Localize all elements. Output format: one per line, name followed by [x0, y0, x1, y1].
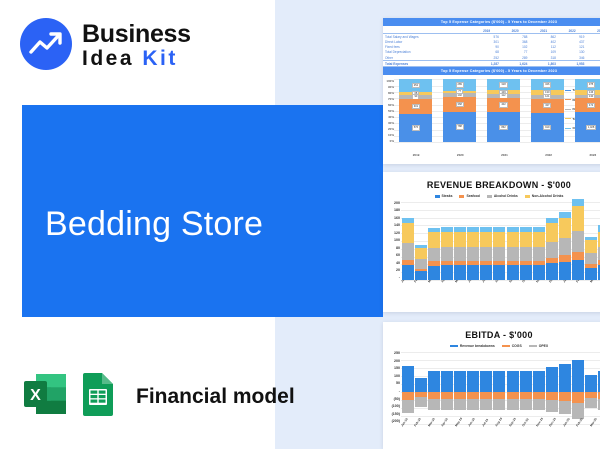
bar-segment	[520, 399, 532, 410]
bar-segment	[559, 392, 571, 401]
expense-total-cell: 1,287	[472, 61, 501, 67]
bar-column	[428, 228, 440, 280]
bar-segment	[467, 392, 479, 399]
bar-segment-positive	[520, 371, 532, 392]
bar-segment	[480, 399, 492, 410]
bar-segment-positive	[493, 371, 505, 392]
legend-swatch	[435, 195, 440, 198]
bar-segment: 1,028	[575, 112, 600, 142]
y-tick: 60	[385, 254, 400, 258]
bar-column	[493, 352, 505, 424]
bar-segment-positive	[533, 371, 545, 392]
bar-segment	[480, 247, 492, 261]
legend-label: Steaks	[442, 194, 453, 198]
bar-column	[415, 352, 427, 424]
bar-segment	[402, 243, 414, 260]
bar-segment-positive	[415, 378, 427, 392]
y-tick: 200	[385, 360, 400, 364]
bar-segment	[493, 265, 505, 280]
bar-segment	[585, 240, 597, 253]
bar-column	[533, 227, 545, 280]
y-tick: 120	[385, 232, 400, 236]
bar-segment: 301	[399, 99, 432, 114]
y-tick: (100)	[385, 405, 400, 409]
expense-categories-card[interactable]: Top 5 Expense Categories ($'000) - 5 Yea…	[383, 18, 600, 164]
bar-segment	[546, 242, 558, 258]
bar-segment	[441, 265, 453, 280]
y-tick: (50)	[385, 398, 400, 402]
bar-segment	[507, 392, 519, 399]
bar-value-label: 252	[412, 83, 420, 88]
grid-line	[401, 210, 600, 211]
bar-segment	[428, 266, 440, 280]
ebitda-y-axis: 25020015010050-(50)(100)(150)(200)	[385, 352, 400, 424]
bar-value-label: 437	[543, 103, 551, 108]
legend-label: Seafood	[466, 194, 479, 198]
y-tick: 0%	[384, 139, 394, 143]
bar-segment	[520, 392, 532, 399]
revenue-x-axis: Jan-19Feb-19Mar-19Apr-19May-19Jun-19Jul-…	[399, 281, 600, 285]
bar-column	[402, 218, 414, 280]
y-tick: (150)	[385, 413, 400, 417]
bar-column	[402, 352, 414, 424]
bar-segment	[533, 247, 545, 261]
bar-segment-negative	[546, 392, 558, 412]
bar-segment	[585, 268, 597, 280]
y-tick: 20	[385, 269, 400, 273]
stacked-bar: 2526890301576	[399, 79, 432, 142]
bar-column	[572, 352, 584, 424]
bar-segment	[533, 265, 545, 280]
legend-label: COGS	[512, 344, 522, 348]
bar-segment	[546, 392, 558, 400]
bar-segment	[467, 265, 479, 280]
legend-swatch	[525, 195, 530, 198]
stacked-bar: 3751461304721,028	[575, 79, 600, 142]
revenue-y-axis: 20018016014012010080604020-	[385, 202, 400, 280]
bar-value-label: 862	[499, 125, 507, 130]
bar-segment	[572, 392, 584, 403]
bar-segment-negative	[467, 392, 479, 410]
y-tick: 80	[385, 247, 400, 251]
bar-segment	[454, 247, 466, 261]
revenue-chart-legend: SteaksSeafoodAlcohol DrinksNon-Alcohol D…	[383, 194, 600, 198]
slide-root: Business Idea Kit Bedding Store X	[0, 0, 600, 449]
ebitda-card[interactable]: EBITDA - $'000 Revenue breakdownsCOGSOPE…	[383, 322, 600, 449]
bar-segment-negative	[480, 392, 492, 410]
brand-kit-text: Kit	[142, 47, 178, 70]
legend-label: OPEX	[539, 344, 548, 348]
bar-column	[480, 352, 492, 424]
bar-segment: 375	[575, 79, 600, 90]
bar-segment-positive	[480, 371, 492, 392]
bar-column	[546, 352, 558, 424]
bar-segment	[428, 399, 440, 410]
y-tick: 100%	[384, 79, 394, 83]
bar-value-label: 472	[587, 103, 595, 108]
bar-column	[441, 227, 453, 280]
bar-segment-positive	[402, 366, 414, 392]
table-row-total: Total Expenses1,2871,6241,8031,9532,151	[383, 61, 600, 67]
y-tick: 20%	[384, 127, 394, 131]
bar-column	[572, 199, 584, 280]
google-sheets-icon	[80, 372, 116, 421]
bar-segment	[402, 392, 414, 400]
bar-segment: 919	[531, 113, 564, 143]
bar-segment	[467, 399, 479, 410]
bar-segment: 472	[575, 98, 600, 112]
page-title: Bedding Store	[45, 205, 263, 244]
bar-value-label: 576	[412, 125, 420, 130]
bar-segment	[520, 232, 532, 248]
bar-segment	[493, 232, 505, 248]
stacked-bar: 28977102368788	[443, 79, 476, 142]
bar-column	[507, 352, 519, 424]
bar-segment-negative	[559, 392, 571, 414]
bar-segment	[572, 260, 584, 280]
bar-segment-positive	[585, 375, 597, 392]
legend-swatch	[565, 109, 571, 110]
stacked-bar: 346130121437919	[531, 79, 564, 142]
bar-segment-negative	[441, 392, 453, 410]
bar-segment	[454, 232, 466, 248]
bar-segment	[559, 401, 571, 414]
bar-segment	[507, 247, 519, 261]
legend-swatch	[529, 345, 537, 346]
bar-segment	[428, 248, 440, 262]
bar-segment	[493, 399, 505, 410]
expense-chart-x-axis: 20192020202120222023	[383, 153, 600, 157]
revenue-chart-title: REVENUE BREAKDOWN - $'000	[383, 180, 600, 190]
y-tick: 150	[385, 367, 400, 371]
y-tick: 40	[385, 262, 400, 266]
y-tick: 250	[385, 352, 400, 356]
bar-column	[467, 352, 479, 424]
y-tick: 160	[385, 217, 400, 221]
expense-total-cell: 2,151	[586, 61, 600, 67]
bar-column	[428, 352, 440, 424]
x-tick: 2020	[444, 153, 477, 157]
y-tick: 100	[385, 239, 400, 243]
bar-segment	[454, 265, 466, 280]
legend-item: OPEX	[529, 344, 548, 348]
bar-value-label: 318	[499, 82, 507, 87]
bar-segment: 368	[443, 97, 476, 111]
legend-swatch	[565, 99, 571, 100]
bar-segment	[441, 392, 453, 399]
bar-segment-positive	[507, 371, 519, 392]
bar-segment	[559, 255, 571, 262]
bar-column	[585, 352, 597, 424]
legend-swatch	[565, 118, 571, 119]
bar-segment-positive	[441, 371, 453, 392]
x-tick: 2019	[400, 153, 433, 157]
bar-segment-positive	[454, 371, 466, 392]
bar-segment	[415, 271, 427, 280]
excel-icon: X	[22, 372, 68, 421]
svg-text:X: X	[30, 387, 41, 404]
bar-segment	[533, 399, 545, 410]
bar-value-label: 1,028	[586, 125, 597, 130]
bar-column	[415, 245, 427, 280]
bar-segment	[572, 252, 584, 259]
bar-segment	[559, 262, 571, 280]
legend-swatch	[565, 90, 571, 91]
bar-segment-negative	[507, 392, 519, 410]
bar-segment: 576	[399, 114, 432, 142]
y-tick: 140	[385, 224, 400, 228]
bar-segment: 862	[487, 112, 520, 142]
bar-segment	[585, 398, 597, 408]
brand-logo: Business Idea Kit	[20, 18, 191, 70]
bar-segment	[467, 247, 479, 261]
bar-segment	[572, 199, 584, 206]
bar-value-label: 788	[456, 124, 464, 129]
expense-total-label: Total Expenses	[383, 61, 472, 67]
bar-segment	[402, 265, 414, 280]
grid-line	[394, 142, 600, 143]
bar-column	[480, 227, 492, 280]
legend-item: Steaks	[435, 194, 453, 198]
legend-item: COGS	[502, 344, 522, 348]
legend-label: Non-Alcohol Drinks	[532, 194, 564, 198]
bar-segment	[454, 392, 466, 399]
bar-column	[507, 227, 519, 280]
expense-stacked-chart: 100%90%80%70%60%50%40%30%20%10%0% 252689…	[383, 76, 600, 152]
expense-total-cell: 1,953	[558, 61, 587, 67]
y-tick: 70%	[384, 97, 394, 101]
bar-segment	[520, 265, 532, 280]
bar-segment	[428, 232, 440, 248]
legend-swatch	[502, 345, 510, 346]
bar-column	[441, 352, 453, 424]
y-tick: 50	[385, 382, 400, 386]
legend-item: Revenue breakdowns	[450, 344, 495, 348]
bar-segment	[585, 253, 597, 264]
bar-segment-negative	[533, 392, 545, 410]
bar-segment	[441, 232, 453, 248]
ebitda-x-axis: Jan-19Feb-19Mar-19Apr-19May-19Jun-19Jul-…	[399, 425, 600, 429]
expense-total-cell: 1,803	[529, 61, 558, 67]
y-tick: 200	[385, 202, 400, 206]
legend-item: Alcohol Drinks	[487, 194, 518, 198]
bar-segment	[572, 206, 584, 231]
bar-segment	[533, 392, 545, 399]
bar-segment	[572, 231, 584, 252]
expense-chart-banner: Top 5 Expense Categories ($'000) - 5 Yea…	[383, 67, 600, 75]
legend-item: Non-Alcohol Drinks	[525, 194, 564, 198]
bar-segment	[454, 399, 466, 410]
expense-table-banner: Top 5 Expense Categories ($'000) - 5 Yea…	[383, 18, 600, 26]
file-format-footer: X Financial model	[22, 372, 295, 421]
bar-value-label: 289	[456, 82, 464, 87]
bar-segment	[467, 232, 479, 248]
ebitda-plot-area: 25020015010050-(50)(100)(150)(200)	[385, 352, 600, 424]
bar-segment	[480, 392, 492, 399]
bar-value-label: 368	[456, 102, 464, 107]
brand-name-line2: Idea Kit	[82, 48, 191, 69]
x-tick: 2022	[532, 153, 565, 157]
expense-table: 20192020202120222023 Total Salary and Wa…	[383, 28, 600, 67]
bar-column	[546, 218, 558, 280]
bar-segment-negative	[493, 392, 505, 410]
ebitda-chart-legend: Revenue breakdownsCOGSOPEX	[383, 344, 600, 348]
bar-column	[533, 352, 545, 424]
bar-value-label: 402	[499, 102, 507, 107]
bar-segment	[546, 263, 558, 280]
bar-segment	[415, 248, 427, 259]
bar-segment	[493, 392, 505, 399]
bar-value-label: 375	[587, 82, 595, 87]
bar-segment: 346	[531, 79, 564, 90]
bar-segment	[507, 399, 519, 410]
bar-column	[493, 227, 505, 280]
y-tick: 90%	[384, 85, 394, 89]
y-tick: 180	[385, 209, 400, 213]
expense-total-cell: 1,624	[501, 61, 530, 67]
bar-value-label: 301	[412, 104, 420, 109]
bar-segment-positive	[572, 360, 584, 392]
bar-segment	[520, 247, 532, 261]
bar-segment	[507, 265, 519, 280]
bar-segment-negative	[415, 392, 427, 407]
legend-swatch	[487, 195, 492, 198]
bar-segment	[480, 265, 492, 280]
legend-swatch	[565, 128, 571, 129]
y-tick: 40%	[384, 115, 394, 119]
bar-column	[559, 212, 571, 280]
revenue-breakdown-card[interactable]: REVENUE BREAKDOWN - $'000 SteaksSeafoodA…	[383, 172, 600, 312]
ebitda-bars	[401, 352, 600, 424]
bar-segment-negative	[520, 392, 532, 410]
ebitda-chart-title: EBITDA - $'000	[383, 330, 600, 340]
bar-segment	[441, 247, 453, 261]
bar-segment	[546, 400, 558, 412]
bar-value-label: 919	[543, 125, 551, 130]
legend-item: Seafood	[459, 194, 479, 198]
y-tick: -	[385, 390, 400, 394]
bar-segment: 788	[443, 112, 476, 143]
bar-segment-positive	[546, 367, 558, 392]
brand-idea-text: Idea	[82, 47, 142, 70]
revenue-plot-area: 20018016014012010080604020-	[385, 202, 600, 280]
revenue-bars	[401, 202, 600, 280]
bar-value-label: 346	[543, 82, 551, 87]
bar-segment	[480, 232, 492, 248]
y-tick: -	[385, 276, 400, 280]
bar-segment-negative	[585, 392, 597, 408]
bar-segment-negative	[454, 392, 466, 410]
bar-segment	[546, 223, 558, 241]
bar-segment-negative	[428, 392, 440, 410]
bar-segment	[428, 392, 440, 399]
y-tick: 10%	[384, 133, 394, 137]
x-tick: 2021	[488, 153, 521, 157]
stacked-bar: 318109112402862	[487, 79, 520, 142]
legend-label: Revenue breakdowns	[460, 344, 495, 348]
bar-segment: 437	[531, 99, 564, 113]
y-tick: 80%	[384, 91, 394, 95]
bar-column	[467, 227, 479, 280]
y-tick: 100	[385, 375, 400, 379]
trending-up-arrow-icon	[20, 18, 72, 70]
bar-column	[520, 352, 532, 424]
bar-segment	[559, 218, 571, 238]
y-tick: 60%	[384, 103, 394, 107]
bar-column	[559, 352, 571, 424]
brand-name-line1: Business	[82, 22, 191, 47]
y-tick: 50%	[384, 109, 394, 113]
bar-segment	[441, 399, 453, 410]
bar-segment	[415, 397, 427, 407]
legend-label: Alcohol Drinks	[494, 194, 518, 198]
bar-segment-negative	[402, 392, 414, 413]
bar-segment-positive	[467, 371, 479, 392]
expense-chart-y-axis: 100%90%80%70%60%50%40%30%20%10%0%	[384, 79, 394, 143]
bar-segment-positive	[559, 364, 571, 392]
grid-line	[401, 202, 600, 203]
bar-segment	[493, 247, 505, 261]
bar-segment	[507, 232, 519, 248]
legend-swatch	[450, 345, 458, 346]
bar-segment	[402, 223, 414, 243]
legend-swatch	[459, 195, 464, 198]
bar-segment	[402, 400, 414, 412]
bar-segment: 402	[487, 98, 520, 112]
bar-segment	[533, 232, 545, 248]
footer-label: Financial model	[136, 385, 295, 409]
bar-segment-positive	[428, 371, 440, 392]
y-tick: 30%	[384, 121, 394, 125]
bar-column	[520, 227, 532, 280]
bar-column	[454, 227, 466, 280]
bar-segment	[559, 238, 571, 256]
bar-column	[454, 352, 466, 424]
bar-segment	[415, 259, 427, 268]
x-tick: 2023	[576, 153, 600, 157]
y-tick: (200)	[385, 420, 400, 424]
bar-column	[585, 237, 597, 280]
